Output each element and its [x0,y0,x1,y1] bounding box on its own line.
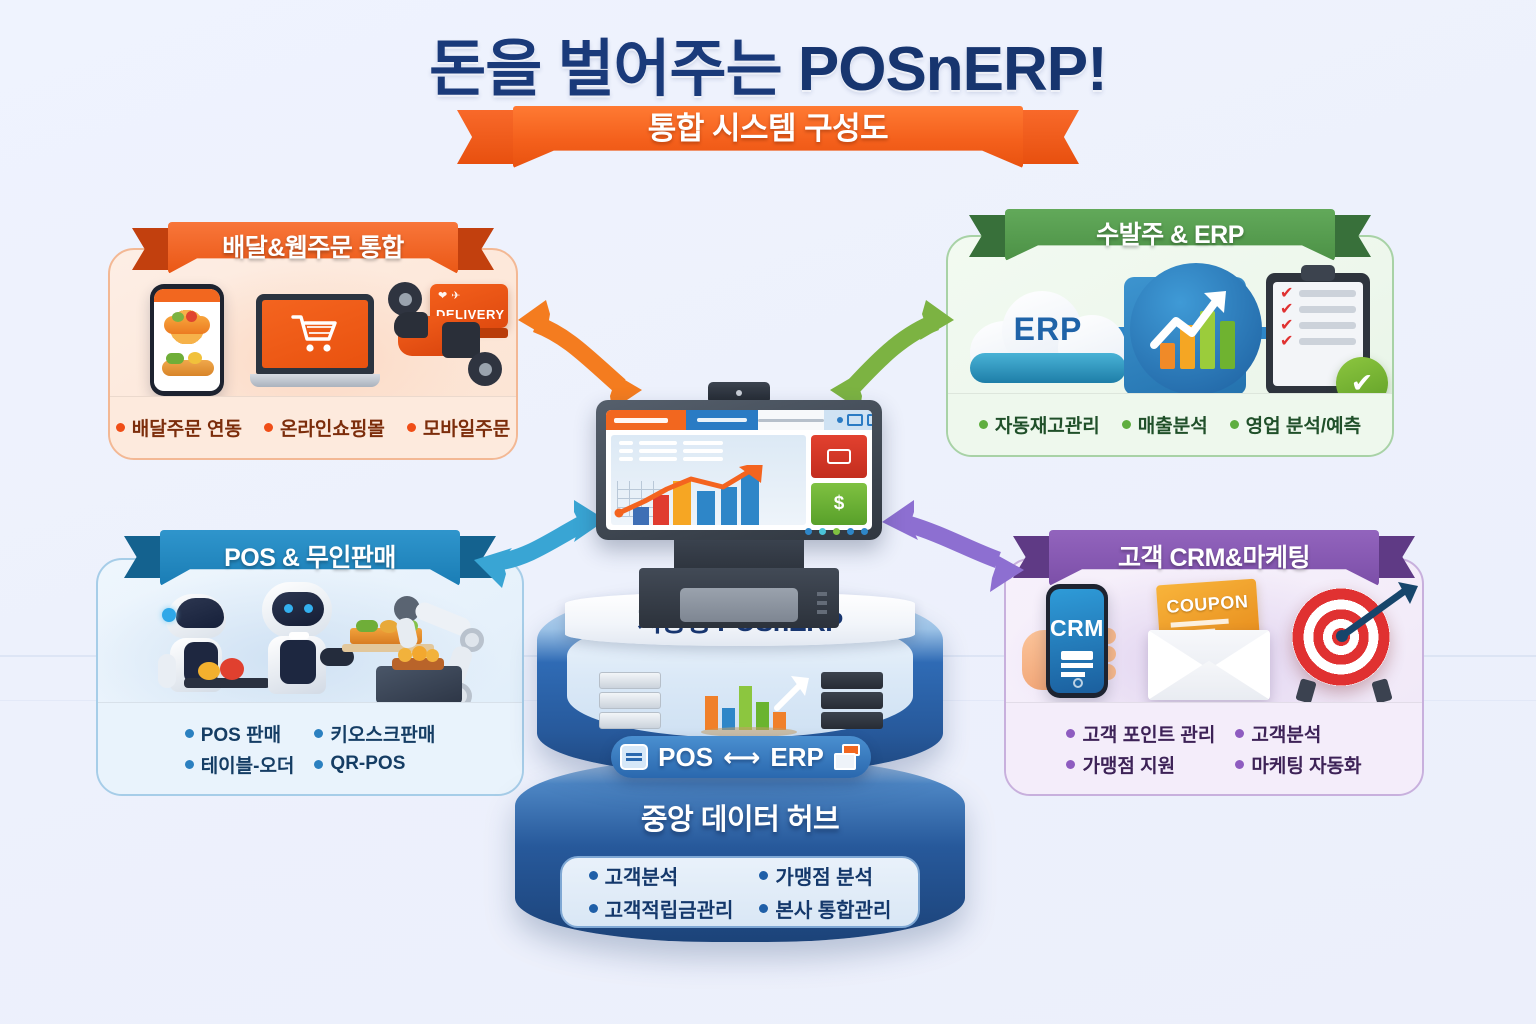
crm-phone-in-hand-icon: CRM [1022,578,1132,702]
banner-wing-left [969,215,1011,257]
terminal-bezel: $ [596,400,882,540]
bullet-dot-icon [314,760,323,769]
robotic-arm-icon [390,590,510,702]
arrow-pos-hub [470,498,610,590]
terminal-dashboard: $ [606,430,872,530]
terminal-keypad[interactable]: $ [811,435,867,525]
bullet-dot-icon [1066,760,1075,769]
crm-phone-label: CRM [1050,615,1104,642]
ribbon-label: 통합 시스템 구성도 [648,106,888,152]
bullet-dot-icon [185,760,194,769]
pos-panel-banner: POS & 무인판매 [160,530,460,586]
bullet-dot-icon [1235,760,1244,769]
scooter-wheel-icon [468,352,502,386]
list-item: 마케팅 자동화 [1235,751,1361,778]
bullet-dot-icon [407,423,416,432]
list-item: 영업 분석/예측 [1230,411,1361,438]
list-item: 배달주문 연동 [116,414,242,441]
bullet-dot-icon [759,871,768,880]
erp-panel-bullets: 자동재고관리 매출분석 영업 분석/예측 [948,393,1392,455]
page-title-brand: POSnERP! [798,35,1107,104]
list-item: QR-POS [314,751,435,778]
laptop-device-icon [250,294,380,396]
list-item-label: 고객분석 [1251,720,1321,747]
list-item-label: 키오스크판매 [330,720,435,747]
list-item: 고객적립금관리 [589,894,734,923]
bullet-dot-icon [314,729,323,738]
list-item: 매출분석 [1122,411,1208,438]
erp-panel-banner: 수발주 & ERP [1005,209,1335,261]
erp-document-icon [834,744,862,770]
bullet-dot-icon [1122,420,1131,429]
pos-receipt-icon [620,744,648,770]
ribbon-flag-right [1021,110,1079,164]
bullet-dot-icon [759,904,768,913]
server-rack-icon [599,672,661,729]
phone-device-icon [150,284,224,396]
list-item: 모바일주문 [407,414,510,441]
list-item-label: 모바일주문 [423,414,510,441]
erp-panel[interactable]: 수발주 & ERP ERP [946,235,1394,457]
crm-panel-title: 고객 CRM&마케팅 [1118,539,1310,577]
list-item-label: 테이블-오더 [201,751,295,778]
list-item: 온라인쇼핑몰 [264,414,385,441]
delivery-scooter-icon: ❤ ✈ DELIVERY [388,282,514,396]
coupon-mail-icon: COUPON [1140,582,1278,702]
bullet-dot-icon [264,423,273,432]
cash-key[interactable]: $ [811,483,867,526]
page-title: 돈을 벌어주는 POSnERP! [0,18,1536,108]
bullet-dot-icon [979,420,988,429]
delivery-panel-bullets: 배달주문 연동 온라인쇼핑몰 모바일주문 [110,396,516,458]
page-title-plain: 돈을 벌어주는 [429,35,798,104]
list-item-label: 본사 통합관리 [775,894,891,923]
delivery-panel-title: 배달&웹주문 통합 [222,229,404,267]
crm-panel-banner: 고객 CRM&마케팅 [1049,530,1379,586]
list-item-label: 매출분석 [1138,411,1208,438]
list-item-label: 배달주문 연동 [132,414,242,441]
list-item-label: 영업 분석/예측 [1246,411,1361,438]
list-item-label: 가맹점 지원 [1082,751,1175,778]
pill-label-erp: ERP [770,742,823,773]
title-ribbon: 통합 시스템 구성도 [513,106,1023,168]
check-icon: ✔ [1280,322,1293,329]
list-item: 테이블-오더 [185,751,295,778]
pos-panel-bullets: POS 판매 키오스크판매 테이블-오더 QR-POS [98,702,522,794]
list-item-label: 가맹점 분석 [775,861,873,890]
hub-chart [701,674,811,736]
service-robot-icon [246,582,356,698]
target-dart-icon [1284,586,1404,702]
list-item-label: 온라인쇼핑몰 [280,414,385,441]
list-item: 고객분석 [589,861,734,890]
check-icon: ✔ [1280,306,1293,313]
bullet-dot-icon [589,871,598,880]
terminal-printer [639,568,839,628]
arrow-crm-hub [880,500,1030,596]
check-icon: ✔ [1280,290,1293,297]
crm-panel[interactable]: 고객 CRM&마케팅 CRM [1004,558,1424,796]
card-key[interactable] [811,435,867,478]
infographic-canvas: 돈을 벌어주는 POSnERP! 통합 시스템 구성도 배달&웹주문 통합 [0,0,1536,1024]
ribbon-body: 통합 시스템 구성도 [513,106,1023,168]
check-icon: ✔ [1280,338,1293,345]
banner-wing-right [452,228,494,270]
list-item: 가맹점 지원 [1066,751,1215,778]
hub-title: 중앙 데이터 허브 [515,796,965,838]
pos-erp-bridge-pill: POS ⟷ ERP [611,736,871,778]
list-item-label: 고객분석 [605,861,679,890]
list-item-label: 고객 포인트 관리 [1082,720,1215,747]
pos-terminal[interactable]: $ [596,382,882,612]
list-item: 고객 포인트 관리 [1066,720,1215,747]
bullet-dot-icon [589,904,598,913]
banner-wing-left [124,536,166,578]
pill-arrow-icon: ⟷ [723,742,760,773]
scooter-wheel-icon [388,282,422,316]
checklist-clipboard-icon: ✔ ✔ ✔ ✔ ✔ [1266,273,1370,393]
hub-bullets-card: 고객분석 가맹점 분석 고객적립금관리 본사 통합관리 [560,856,920,928]
bullet-dot-icon [116,423,125,432]
ribbon-flag-left [457,110,515,164]
terminal-screen[interactable]: $ [606,410,872,530]
list-item: 본사 통합관리 [759,894,891,923]
printer-slot [680,588,798,622]
crm-panel-bullets: 고객 포인트 관리 고객분석 가맹점 지원 마케팅 자동화 [1006,702,1422,794]
banner-wing-right [1329,215,1371,257]
service-robot-icon [154,594,238,698]
banner-wing-right [1373,536,1415,578]
bullet-dot-icon [1066,729,1075,738]
central-data-hub[interactable]: 지능형 POSnERP POS ⟷ ERP 중앙 데이터 허브 고객분석 가맹점… [515,588,965,948]
pos-panel-title: POS & 무인판매 [224,539,396,577]
bullet-dot-icon [1235,729,1244,738]
erp-cloud-icon: ERP [964,283,1132,387]
list-item-label: QR-POS [330,753,405,775]
list-item: 자동재고관리 [979,411,1100,438]
terminal-topbar [606,410,872,430]
list-item: POS 판매 [185,720,295,747]
list-item-label: 자동재고관리 [995,411,1100,438]
list-item-label: POS 판매 [201,720,281,747]
coupon-label: COUPON [1157,591,1258,619]
list-item: 가맹점 분석 [759,861,891,890]
list-item-label: 고객적립금관리 [605,894,734,923]
terminal-sales-chart [611,435,806,525]
delivery-panel-banner: 배달&웹주문 통합 [168,222,458,274]
list-item-label: 마케팅 자동화 [1251,751,1361,778]
server-rack-icon [821,672,883,729]
terminal-status-leds [805,528,868,530]
bullet-dot-icon [1230,420,1239,429]
erp-panel-title: 수발주 & ERP [1096,216,1244,254]
sales-analytics-icon [1130,263,1262,393]
delivery-panel[interactable]: 배달&웹주문 통합 [108,248,518,460]
erp-cloud-label: ERP [964,311,1132,348]
pill-label-pos: POS [658,742,713,773]
list-item: 키오스크판매 [314,720,435,747]
pos-panel[interactable]: POS & 무인판매 [96,558,524,796]
bullet-dot-icon [185,729,194,738]
banner-wing-left [132,228,174,270]
shopping-cart-icon [291,313,339,355]
list-item: 고객분석 [1235,720,1361,747]
